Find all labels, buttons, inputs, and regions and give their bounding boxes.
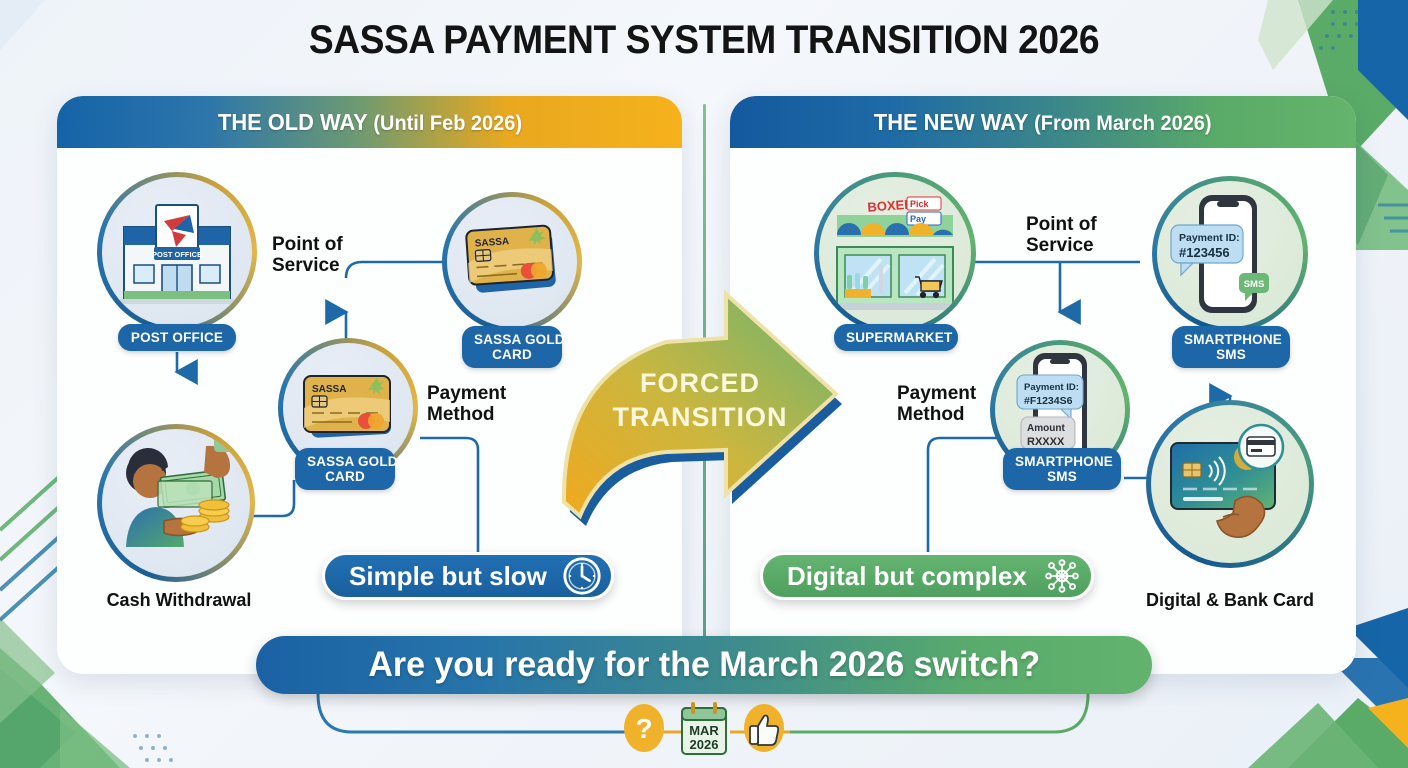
post-office-icon: POST OFFICE: [102, 177, 252, 327]
calendar-badge-year: 2026: [690, 737, 719, 752]
supermarket-sign-pay: Pay: [910, 214, 926, 224]
pm-line1: Payment: [897, 383, 976, 404]
new-head-sub: (From March 2026): [1034, 112, 1211, 135]
panel-old-header: THE OLD WAY (Until Feb 2026): [57, 96, 682, 148]
old-head-sub: (Until Feb 2026): [373, 112, 522, 135]
card-brand-text: SASSA: [312, 384, 346, 395]
tag-line1: SMARTPHONE: [1184, 332, 1282, 347]
question-badge[interactable]: ?: [620, 704, 668, 757]
caption-cash-withdrawal: Cash Withdrawal: [99, 590, 259, 611]
phone-payment-id-label: Payment ID:: [1024, 382, 1079, 393]
transition-line1: FORCED: [640, 368, 760, 398]
transition-line2: TRANSITION: [613, 402, 788, 432]
panel-new-header: THE NEW WAY (From March 2026): [730, 96, 1356, 148]
supermarket-icon: BOXER Pick Pay: [819, 177, 971, 329]
cta-banner[interactable]: Are you ready for the March 2026 switch?: [256, 636, 1152, 694]
pos-line1: Point of: [272, 234, 343, 255]
tag-line2: CARD: [325, 469, 365, 484]
new-head-main: THE NEW WAY: [874, 109, 1034, 135]
cta-text: Are you ready for the March 2026 switch?: [368, 645, 1040, 685]
infographic-canvas: SASSA PAYMENT SYSTEM TRANSITION 2026 THE…: [0, 0, 1408, 768]
verdict-pill-old[interactable]: Simple but slow: [322, 552, 614, 600]
tag-sassa-gold-card-payment: SASSA GOLD CARD: [295, 448, 395, 490]
node-smartphone-sms-service[interactable]: Payment ID: #123456 SMS: [1152, 176, 1308, 332]
cash-withdrawal-icon: [102, 429, 250, 577]
panel-new-header-text: THE NEW WAY (From March 2026): [874, 109, 1212, 136]
caption-digital-bank-card: Digital & Bank Card: [1130, 590, 1330, 611]
panel-old-header-text: THE OLD WAY (Until Feb 2026): [218, 109, 522, 136]
tag-supermarket: SUPERMARKET: [834, 324, 958, 351]
verdict-text-new: Digital but complex: [787, 561, 1027, 592]
clock-icon: [561, 555, 603, 597]
node-cash-withdrawal[interactable]: [97, 424, 255, 582]
pos-line1: Point of: [1026, 214, 1097, 235]
pm-line1: Payment: [427, 383, 506, 404]
supermarket-sign-pick: Pick: [910, 199, 930, 209]
phone-payment-id-value: #123456: [1179, 245, 1230, 260]
old-head-main: THE OLD WAY: [218, 109, 373, 135]
sms-badge-text: SMS: [1244, 279, 1265, 290]
label-point-of-service-old: Point of Service: [272, 234, 343, 276]
node-supermarket[interactable]: BOXER Pick Pay: [814, 172, 976, 334]
forced-transition-arrow: FORCED TRANSITION: [540, 280, 860, 560]
phone-amount-label: Amount: [1027, 423, 1065, 434]
pm-line2: Method: [427, 404, 495, 425]
tag-post-office: POST OFFICE: [118, 324, 236, 351]
tag-line2: CARD: [492, 347, 532, 362]
phone-amount-value: RXXXX: [1027, 436, 1065, 448]
tag-smartphone-sms-payment: SMARTPHONE SMS: [1003, 448, 1121, 490]
bank-card-tap-icon: [1151, 405, 1309, 563]
network-nodes-icon: [1041, 555, 1083, 597]
tag-smartphone-sms-service: SMARTPHONE SMS: [1172, 326, 1290, 368]
pos-line2: Service: [1026, 235, 1094, 256]
thumbs-up-badge[interactable]: [740, 704, 788, 757]
verdict-text-old: Simple but slow: [349, 561, 547, 592]
pos-line2: Service: [272, 255, 340, 276]
page-title: SASSA PAYMENT SYSTEM TRANSITION 2026: [49, 18, 1358, 63]
post-office-sign-text: POST OFFICE: [152, 250, 202, 259]
tag-line2: SMS: [1216, 347, 1246, 362]
node-post-office[interactable]: POST OFFICE: [97, 172, 257, 332]
tag-line2: SMS: [1047, 469, 1077, 484]
tag-line1: SASSA GOLD: [307, 454, 398, 469]
phone-payment-id-label: Payment ID:: [1179, 232, 1240, 244]
tag-line1: SMARTPHONE: [1015, 454, 1113, 469]
label-payment-method-old: Payment Method: [427, 383, 506, 425]
pm-line2: Method: [897, 404, 965, 425]
label-point-of-service-new: Point of Service: [1026, 214, 1097, 256]
phone-payment-id-value: #F1234S6: [1024, 395, 1073, 407]
verdict-pill-new[interactable]: Digital but complex: [760, 552, 1094, 600]
label-payment-method-new: Payment Method: [897, 383, 976, 425]
node-digital-bank-card[interactable]: [1146, 400, 1314, 568]
calendar-badge-month: MAR: [689, 723, 719, 738]
smartphone-sms-icon: Payment ID: #123456 SMS: [1157, 181, 1303, 327]
calendar-badge[interactable]: MAR 2026: [676, 700, 732, 763]
question-badge-glyph: ?: [635, 713, 652, 744]
